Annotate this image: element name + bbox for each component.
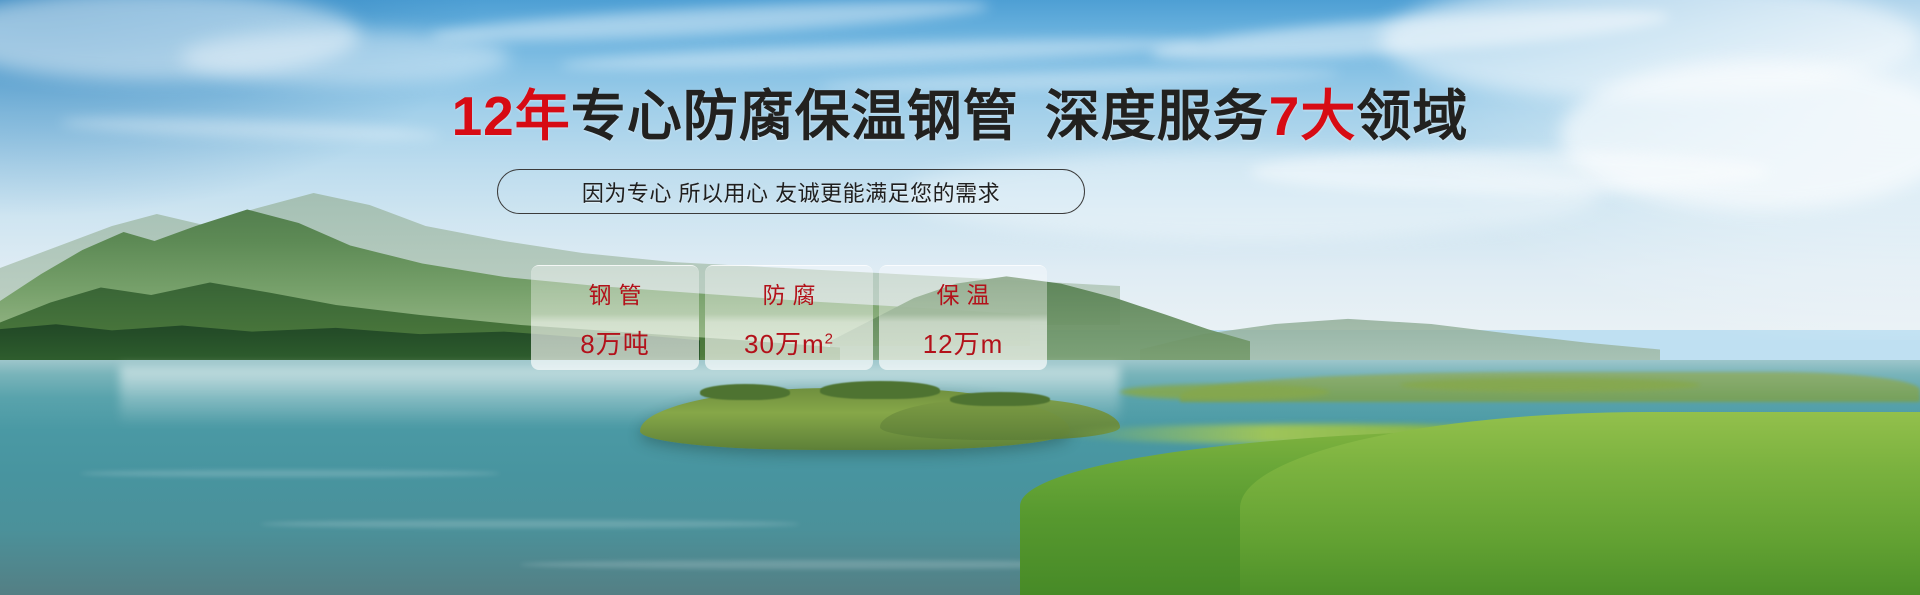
- island-tuft: [820, 381, 940, 399]
- subtitle-text: 因为专心 所以用心 友诚更能满足您的需求: [582, 176, 1000, 208]
- stat-card-title: 钢管: [582, 276, 649, 310]
- headline-segment-fields: 领域: [1356, 85, 1468, 147]
- subtitle-pill: 因为专心 所以用心 友诚更能满足您的需求: [497, 169, 1085, 214]
- hero-banner: 12年专心防腐保温钢管深度服务7大领域 因为专心 所以用心 友诚更能满足您的需求…: [0, 0, 1920, 595]
- stat-card: 防腐 30万m2: [705, 265, 873, 370]
- headline-segment-service: 深度服务: [1045, 85, 1269, 147]
- stat-card: 保温 12万m: [879, 265, 1047, 370]
- marsh-patch: [1120, 384, 1330, 400]
- stat-card-title: 保温: [930, 276, 997, 310]
- island-tuft: [950, 392, 1050, 406]
- page-title: 12年专心防腐保温钢管深度服务7大领域: [0, 86, 1920, 146]
- stat-card: 钢管 8万吨: [531, 265, 699, 370]
- headline-segment-years: 12年: [452, 85, 571, 147]
- stat-card-value: 8万吨: [580, 324, 649, 361]
- stat-value-text: 8万吨: [580, 329, 649, 359]
- marsh-patch: [1400, 378, 1700, 392]
- headline-segment-main: 专心防腐保温钢管: [571, 85, 1019, 147]
- stat-card-value: 12万m: [923, 324, 1004, 361]
- headline-segment-seven: 7大: [1269, 85, 1357, 147]
- stat-value-text: 12万m: [923, 329, 1004, 359]
- stat-card-value: 30万m2: [744, 324, 834, 361]
- stat-value-superscript: 2: [825, 330, 834, 347]
- island-tuft: [700, 384, 790, 400]
- water-ripple: [260, 520, 800, 528]
- water-ripple: [80, 470, 500, 477]
- stat-card-title: 防腐: [756, 276, 823, 310]
- stat-value-text: 30万m: [744, 329, 825, 359]
- stat-card-group: 钢管 8万吨 防腐 30万m2 保温 12万m: [531, 265, 1047, 370]
